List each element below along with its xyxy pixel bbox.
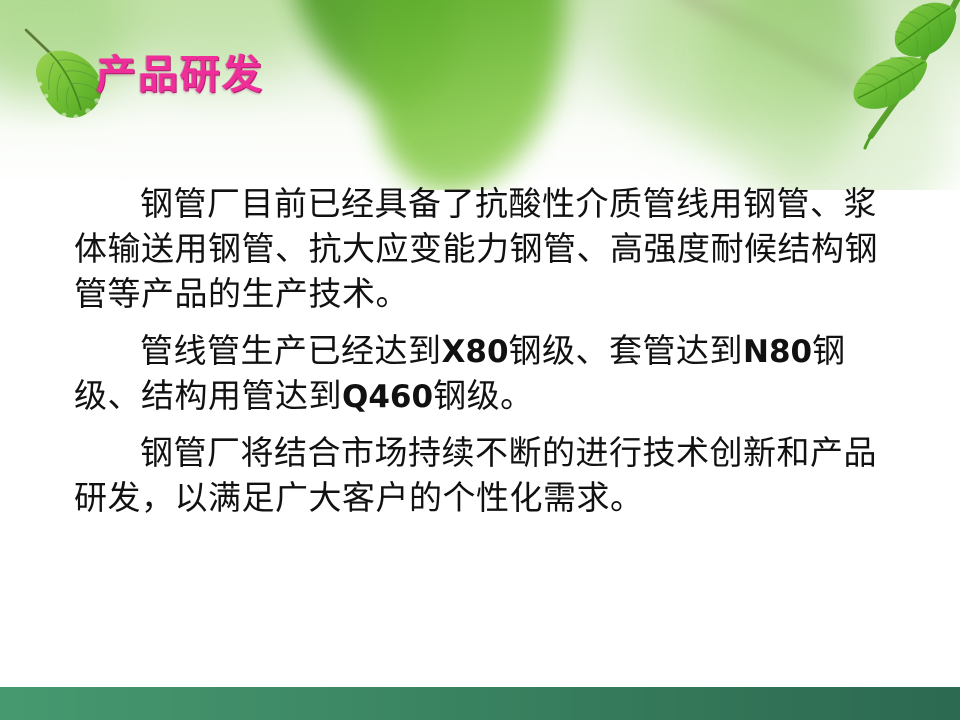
paragraph-3: 钢管厂将结合市场持续不断的进行技术创新和产品研发，以满足广大客户的个性化需求。 <box>74 432 896 522</box>
steel-grade-n80: N80 <box>743 334 812 370</box>
blurred-leaf-icon <box>262 0 487 130</box>
blurred-twig-icon <box>669 0 860 91</box>
page-title: 产品研发 <box>96 42 264 100</box>
paragraph-2: 管线管生产已经达到X80钢级、套管达到N80钢级、结构用管达到Q460钢级。 <box>74 330 896 420</box>
steel-grade-x80: X80 <box>442 334 509 370</box>
slide: 产品研发 钢管厂目前已经具备了抗酸性介质管线用钢管、浆体输送用钢管、抗大应变能力… <box>0 0 960 720</box>
p2-mid-text-1: 钢级、套管达到 <box>509 334 744 370</box>
p2-tail-text: 钢级。 <box>433 379 534 415</box>
bokeh-blob-icon <box>620 0 830 140</box>
blurred-leaf-icon <box>338 0 593 190</box>
bokeh-blob-icon <box>430 0 580 50</box>
body-content: 钢管厂目前已经具备了抗酸性介质管线用钢管、浆体输送用钢管、抗大应变能力钢管、高强… <box>74 183 896 528</box>
branch-with-leaves-icon <box>846 0 960 150</box>
footer-bar <box>0 687 960 720</box>
paragraph-1: 钢管厂目前已经具备了抗酸性介质管线用钢管、浆体输送用钢管、抗大应变能力钢管、高强… <box>74 183 896 318</box>
p2-lead-text: 管线管生产已经达到 <box>140 334 442 370</box>
steel-grade-q460: Q460 <box>342 379 433 415</box>
